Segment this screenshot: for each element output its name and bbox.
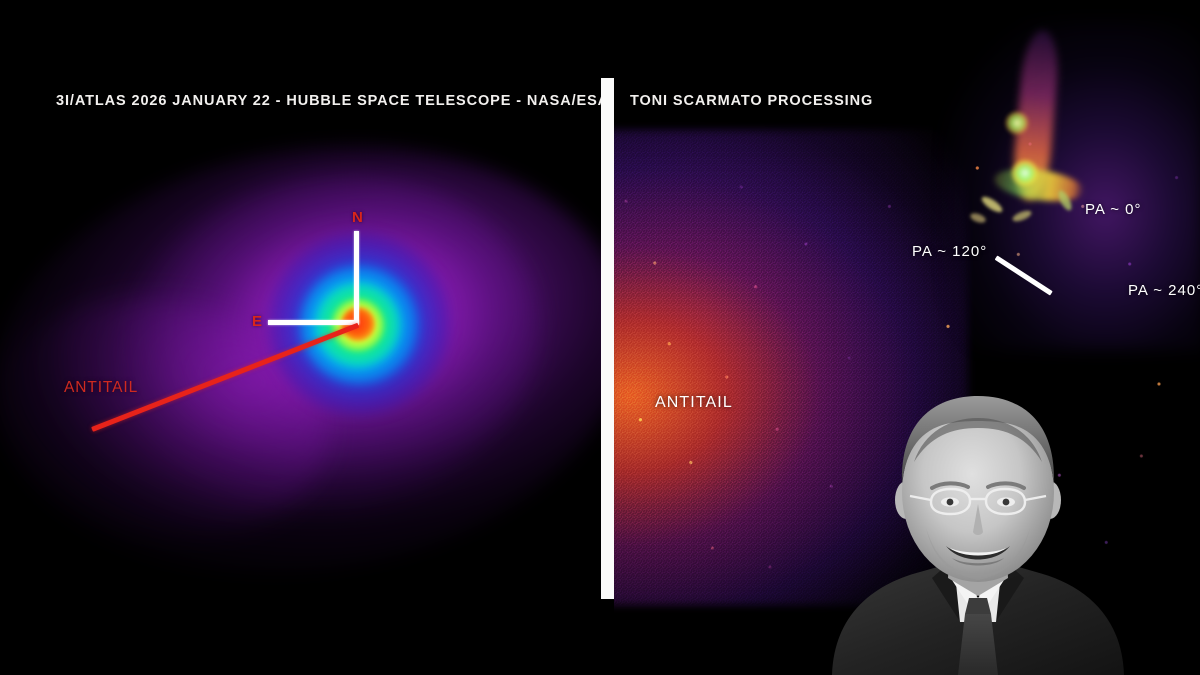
- nucleus-bright-core: [1012, 160, 1038, 186]
- antitail-label-left: ANTITAIL: [64, 379, 138, 397]
- compass-east-line: [268, 320, 359, 325]
- position-angle-120-label: PA ~ 120°: [912, 243, 987, 260]
- compass-north-line: [354, 231, 359, 324]
- tie-knot: [965, 598, 991, 614]
- nucleus-knot: [1006, 112, 1028, 134]
- left-panel-title: 3I/ATLAS 2026 JANUARY 22 - HUBBLE SPACE …: [56, 93, 659, 109]
- right-panel-title: TONI SCARMATO PROCESSING: [630, 93, 873, 109]
- compass-east-label: E: [252, 313, 262, 330]
- antitail-label-right: ANTITAIL: [655, 394, 733, 412]
- presenter-portrait: [828, 388, 1128, 675]
- compass-north-label: N: [352, 209, 363, 226]
- position-angle-0-label: PA ~ 0°: [1085, 201, 1142, 218]
- panel-divider: [601, 78, 614, 599]
- necktie: [958, 614, 998, 675]
- position-angle-240-label: PA ~ 240°: [1128, 282, 1200, 299]
- screenshot-canvas: N E ANTITAIL 3I/ATLAS 2026 JANUARY 22 - …: [0, 0, 1200, 675]
